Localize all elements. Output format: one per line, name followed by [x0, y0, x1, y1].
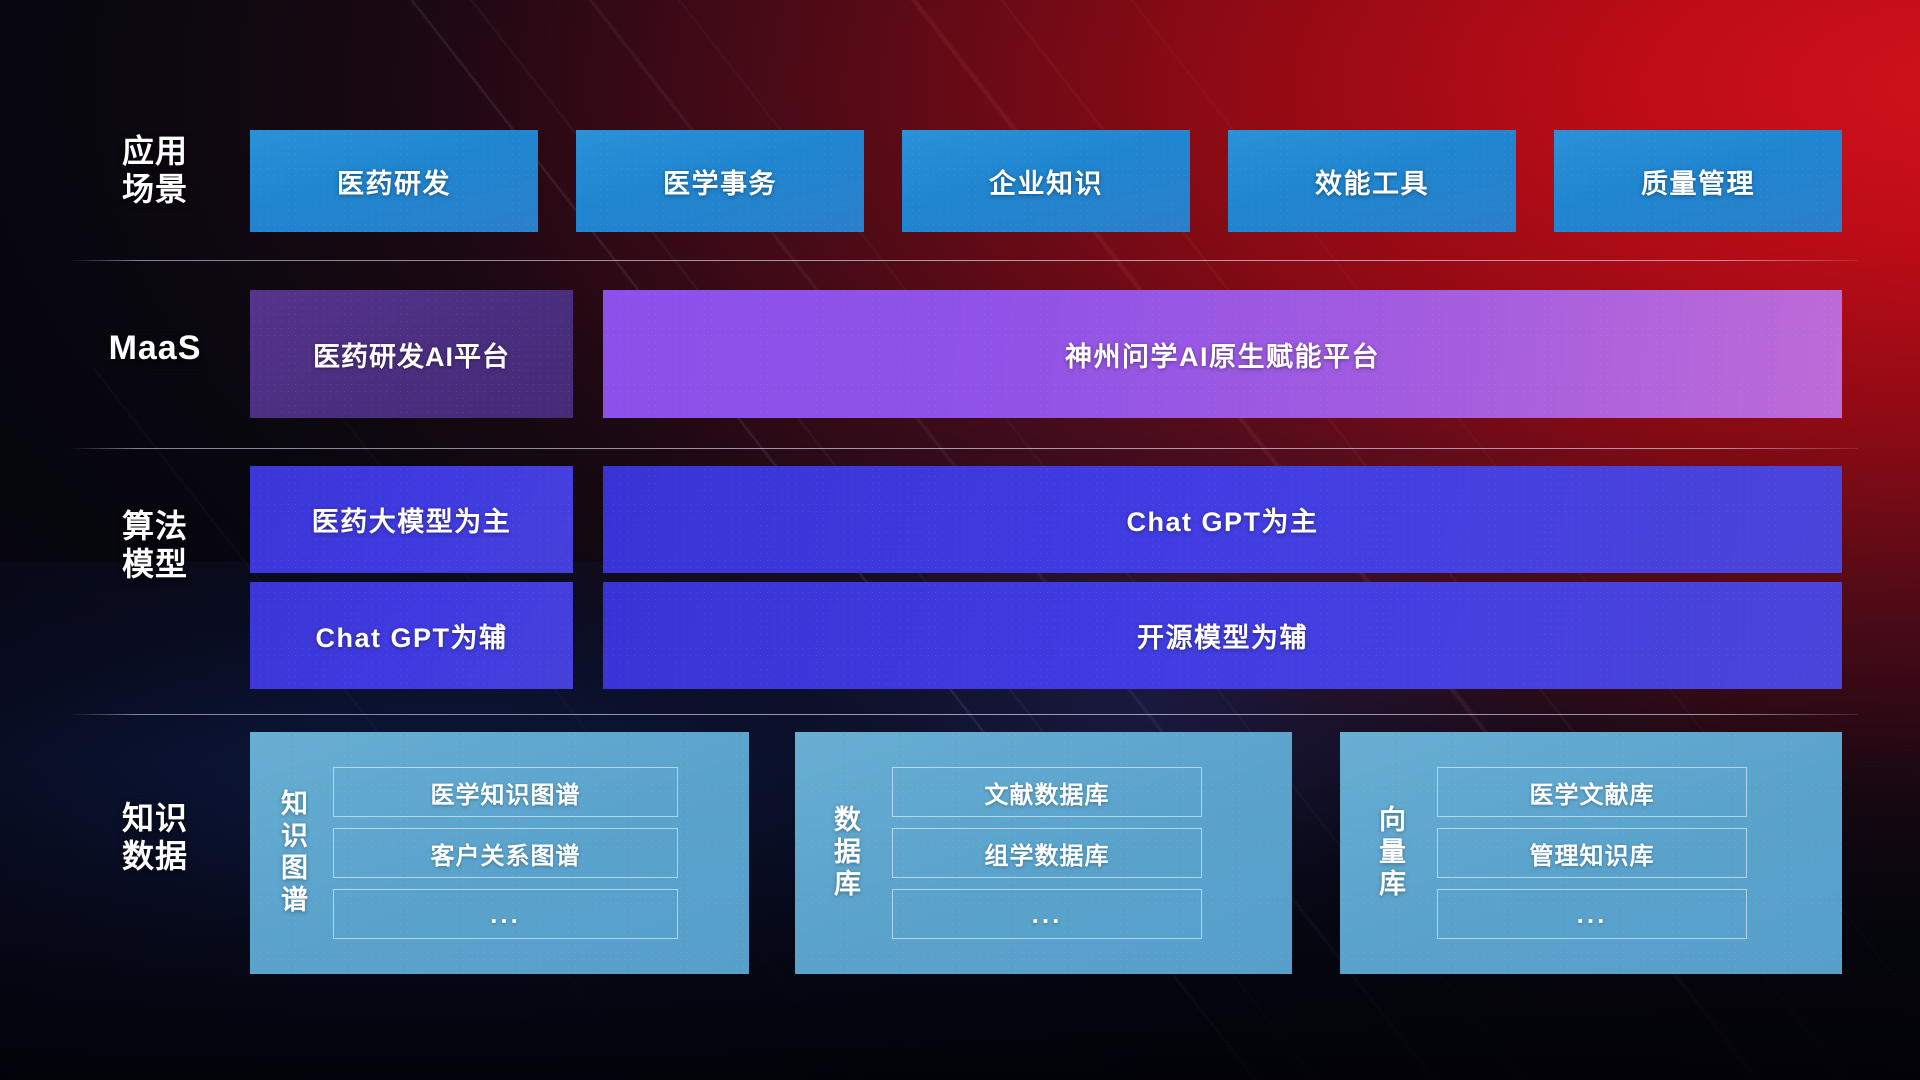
knowledge-panel-vector-database[interactable]: 向量库 医学文献库 管理知识库 ...: [1340, 732, 1842, 974]
knowledge-item-label: 组学数据库: [985, 836, 1110, 871]
knowledge-item-label: ...: [490, 899, 521, 930]
algo-box-pharma-llm-primary[interactable]: 医药大模型为主: [250, 466, 573, 573]
knowledge-item-more[interactable]: ...: [892, 889, 1202, 939]
algo-label: Chat GPT为主: [1126, 500, 1318, 539]
app-scenario-box-4[interactable]: 效能工具: [1228, 130, 1516, 232]
knowledge-item-label: ...: [1577, 899, 1608, 930]
knowledge-item-label: 管理知识库: [1530, 836, 1655, 871]
row-label-line: 数据: [60, 838, 250, 876]
row-label-line: 算法: [60, 508, 250, 546]
maas-box-pharma-ai-platform[interactable]: 医药研发AI平台: [250, 290, 573, 418]
divider-3: [68, 714, 1858, 715]
knowledge-item-more[interactable]: ...: [1437, 889, 1747, 939]
knowledge-item-label: ...: [1032, 899, 1063, 930]
app-scenario-label: 效能工具: [1315, 162, 1429, 201]
knowledge-panel-knowledge-graph[interactable]: 知识图谱 医学知识图谱 客户关系图谱 ...: [250, 732, 749, 974]
knowledge-item[interactable]: 客户关系图谱: [333, 828, 678, 878]
algo-box-opensource-secondary[interactable]: 开源模型为辅: [603, 582, 1842, 689]
row-label-line: 知识: [60, 800, 250, 838]
row-label-line: 应用: [60, 133, 250, 171]
app-scenario-label: 企业知识: [989, 162, 1103, 201]
knowledge-item-label: 医学文献库: [1530, 775, 1655, 810]
app-scenario-label: 医药研发: [337, 162, 451, 201]
maas-box-shenzhou-wenxue-platform[interactable]: 神州问学AI原生赋能平台: [603, 290, 1842, 418]
maas-label: 神州问学AI原生赋能平台: [1065, 335, 1380, 374]
knowledge-panel-database[interactable]: 数据库 文献数据库 组学数据库 ...: [795, 732, 1292, 974]
app-scenario-box-2[interactable]: 医学事务: [576, 130, 864, 232]
row-label-knowledge-data: 知识 数据: [60, 800, 250, 876]
knowledge-item[interactable]: 文献数据库: [892, 767, 1202, 817]
app-scenario-box-3[interactable]: 企业知识: [902, 130, 1190, 232]
algo-box-chatgpt-secondary[interactable]: Chat GPT为辅: [250, 582, 573, 689]
row-label-line: 场景: [60, 171, 250, 209]
algo-label: 开源模型为辅: [1137, 616, 1308, 655]
knowledge-item[interactable]: 医学文献库: [1437, 767, 1747, 817]
knowledge-item-label: 医学知识图谱: [431, 775, 581, 810]
row-label-line: MaaS: [60, 328, 250, 368]
knowledge-item[interactable]: 组学数据库: [892, 828, 1202, 878]
knowledge-item[interactable]: 管理知识库: [1437, 828, 1747, 878]
knowledge-panel-title: 数据库: [831, 805, 858, 901]
maas-label: 医药研发AI平台: [313, 335, 510, 374]
app-scenario-label: 医学事务: [663, 162, 777, 201]
algo-label: 医药大模型为主: [312, 500, 512, 539]
divider-1: [68, 260, 1858, 261]
knowledge-panel-title: 向量库: [1376, 805, 1403, 901]
knowledge-item-more[interactable]: ...: [333, 889, 678, 939]
knowledge-item-label: 客户关系图谱: [431, 836, 581, 871]
app-scenario-box-5[interactable]: 质量管理: [1554, 130, 1842, 232]
row-label-line: 模型: [60, 546, 250, 584]
app-scenario-label: 质量管理: [1641, 162, 1755, 201]
row-label-algorithm-model: 算法 模型: [60, 508, 250, 584]
knowledge-panel-title: 知识图谱: [278, 789, 305, 917]
divider-2: [68, 448, 1858, 449]
architecture-diagram: 应用 场景 医药研发 医学事务 企业知识 效能工具 质量管理 MaaS 医药研发…: [0, 0, 1920, 1080]
row-label-application-scenarios: 应用 场景: [60, 133, 250, 209]
knowledge-item-label: 文献数据库: [985, 775, 1110, 810]
algo-box-chatgpt-primary[interactable]: Chat GPT为主: [603, 466, 1842, 573]
row-label-maas: MaaS: [60, 328, 250, 368]
app-scenario-box-1[interactable]: 医药研发: [250, 130, 538, 232]
algo-label: Chat GPT为辅: [315, 616, 507, 655]
knowledge-item[interactable]: 医学知识图谱: [333, 767, 678, 817]
